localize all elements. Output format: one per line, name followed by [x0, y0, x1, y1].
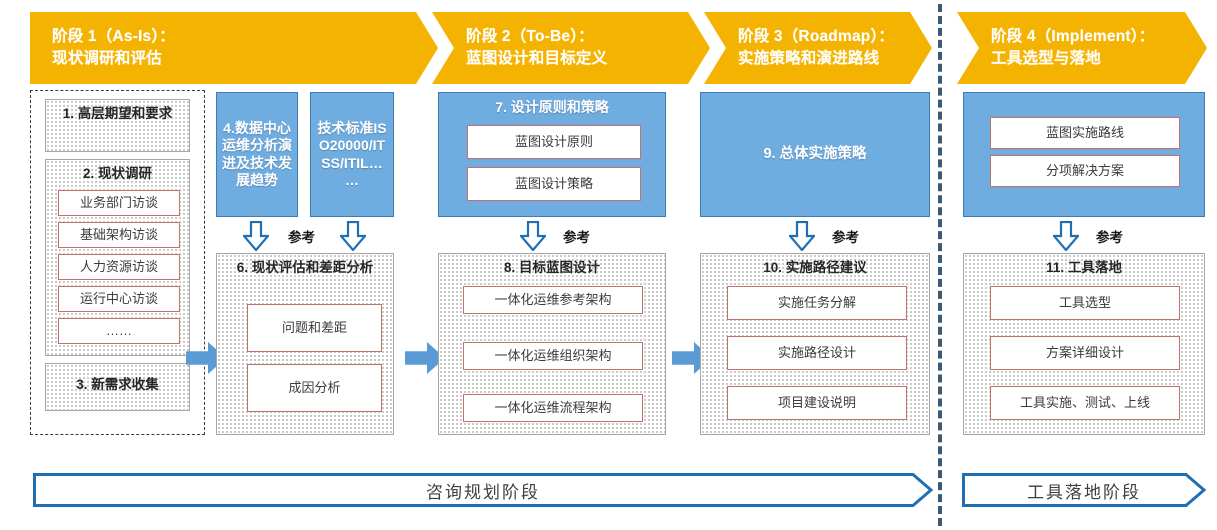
- box-2-item-1[interactable]: 业务部门访谈: [58, 190, 180, 216]
- reference-label-3: 参考: [832, 226, 859, 246]
- banner-consulting-phase: 咨询规划阶段: [33, 473, 933, 507]
- reference-down-arrow-3: [789, 221, 815, 251]
- box-8-item-1[interactable]: 一体化运维参考架构: [463, 286, 643, 314]
- phase-1-line2: 现状调研和评估: [30, 48, 438, 70]
- box-2-item-3[interactable]: 人力资源访谈: [58, 254, 180, 280]
- process-diagram: 阶段 1（As-Is）： 现状调研和评估 阶段 2（To-Be）： 蓝图设计和目…: [0, 0, 1217, 530]
- blueprint-item-1[interactable]: 蓝图实施路线: [990, 117, 1180, 149]
- reference-down-arrow-1a: [243, 221, 269, 251]
- box-tech-standards[interactable]: 技术标准ISO20000/ITSS/ITIL… …: [310, 92, 394, 217]
- phase-3-line2: 实施策略和演进路线: [704, 48, 932, 70]
- box-6-gap-analysis[interactable]: 6. 现状评估和差距分析 问题和差距 成因分析: [216, 253, 394, 435]
- box-9-title: 9. 总体实施策略: [701, 93, 929, 216]
- box-2-item-5[interactable]: ……: [58, 318, 180, 344]
- box-11-item-1[interactable]: 工具选型: [990, 286, 1180, 320]
- box-10-title: 10. 实施路径建议: [701, 254, 929, 281]
- phase-header-4: 阶段 4（Implement）： 工具选型与落地: [957, 12, 1207, 84]
- phase-4-line2: 工具选型与落地: [957, 48, 1207, 70]
- phase-header-3: 阶段 3（Roadmap）： 实施策略和演进路线: [704, 12, 932, 84]
- box-8-target-blueprint[interactable]: 8. 目标蓝图设计 一体化运维参考架构 一体化运维组织架构 一体化运维流程架构: [438, 253, 666, 435]
- box-2-current-state-survey[interactable]: 2. 现状调研 业务部门访谈 基础架构访谈 人力资源访谈 运行中心访谈 ……: [45, 159, 190, 356]
- box-2-item-4[interactable]: 运行中心访谈: [58, 286, 180, 312]
- blueprint-item-2[interactable]: 分项解决方案: [990, 155, 1180, 187]
- box-10-item-2[interactable]: 实施路径设计: [727, 336, 907, 370]
- reference-label-2: 参考: [563, 226, 590, 246]
- box-8-item-2[interactable]: 一体化运维组织架构: [463, 342, 643, 370]
- banner-tool-landing-phase: 工具落地阶段: [962, 473, 1206, 507]
- box-10-implementation-path[interactable]: 10. 实施路径建议 实施任务分解 实施路径设计 项目建设说明: [700, 253, 930, 435]
- box-8-item-3[interactable]: 一体化运维流程架构: [463, 394, 643, 422]
- phase-4-line1: 阶段 4（Implement）：: [957, 26, 1207, 48]
- box-8-title: 8. 目标蓝图设计: [439, 254, 665, 281]
- box-7-item-1[interactable]: 蓝图设计原则: [467, 125, 641, 159]
- phase-3-line1: 阶段 3（Roadmap）：: [704, 26, 932, 48]
- box-1-high-level-expectations[interactable]: 1. 高层期望和要求: [45, 99, 190, 152]
- box-3-title: 3. 新需求收集: [46, 364, 189, 398]
- phase-2-line1: 阶段 2（To-Be）：: [432, 26, 710, 48]
- box-6-item-1[interactable]: 问题和差距: [247, 304, 382, 352]
- box-6-title: 6. 现状评估和差距分析: [217, 254, 393, 281]
- blueprint-implementation-panel[interactable]: 蓝图实施路线 分项解决方案: [963, 92, 1205, 217]
- box-2-item-2[interactable]: 基础架构访谈: [58, 222, 180, 248]
- box-4-text: 4.数据中心运维分析演进及技术发展趋势: [217, 93, 297, 216]
- box-3-new-requirements[interactable]: 3. 新需求收集: [45, 363, 190, 411]
- reference-down-arrow-2: [520, 221, 546, 251]
- box-10-item-1[interactable]: 实施任务分解: [727, 286, 907, 320]
- box-7-title: 7. 设计原则和策略: [439, 93, 665, 121]
- box-4-datacenter-trends[interactable]: 4.数据中心运维分析演进及技术发展趋势: [216, 92, 298, 217]
- banner-right-label: 工具落地阶段: [962, 473, 1217, 507]
- box-7-design-principles[interactable]: 7. 设计原则和策略 蓝图设计原则 蓝图设计策略: [438, 92, 666, 217]
- box-7-item-2[interactable]: 蓝图设计策略: [467, 167, 641, 201]
- phase-group-divider: [938, 4, 942, 526]
- reference-label-4: 参考: [1096, 226, 1123, 246]
- box-11-title: 11. 工具落地: [964, 254, 1204, 281]
- phase-2-line2: 蓝图设计和目标定义: [432, 48, 710, 70]
- box-2-title: 2. 现状调研: [46, 160, 189, 187]
- reference-label-1: 参考: [288, 226, 315, 246]
- box-11-tool-landing[interactable]: 11. 工具落地 工具选型 方案详细设计 工具实施、测试、上线: [963, 253, 1205, 435]
- box-10-item-3[interactable]: 项目建设说明: [727, 386, 907, 420]
- phase-header-1: 阶段 1（As-Is）： 现状调研和评估: [30, 12, 438, 84]
- phase-1-line1: 阶段 1（As-Is）：: [30, 26, 438, 48]
- box-6-item-2[interactable]: 成因分析: [247, 364, 382, 412]
- banner-left-label: 咨询规划阶段: [33, 473, 951, 507]
- reference-down-arrow-4: [1053, 221, 1079, 251]
- box-9-overall-strategy[interactable]: 9. 总体实施策略: [700, 92, 930, 217]
- phase-header-2: 阶段 2（To-Be）： 蓝图设计和目标定义: [432, 12, 710, 84]
- phase-1-group: 1. 高层期望和要求 2. 现状调研 业务部门访谈 基础架构访谈 人力资源访谈 …: [30, 90, 205, 435]
- box-11-item-3[interactable]: 工具实施、测试、上线: [990, 386, 1180, 420]
- box-1-title: 1. 高层期望和要求: [46, 100, 189, 127]
- reference-down-arrow-1b: [340, 221, 366, 251]
- box-11-item-2[interactable]: 方案详细设计: [990, 336, 1180, 370]
- tech-standards-text: 技术标准ISO20000/ITSS/ITIL… …: [311, 93, 393, 216]
